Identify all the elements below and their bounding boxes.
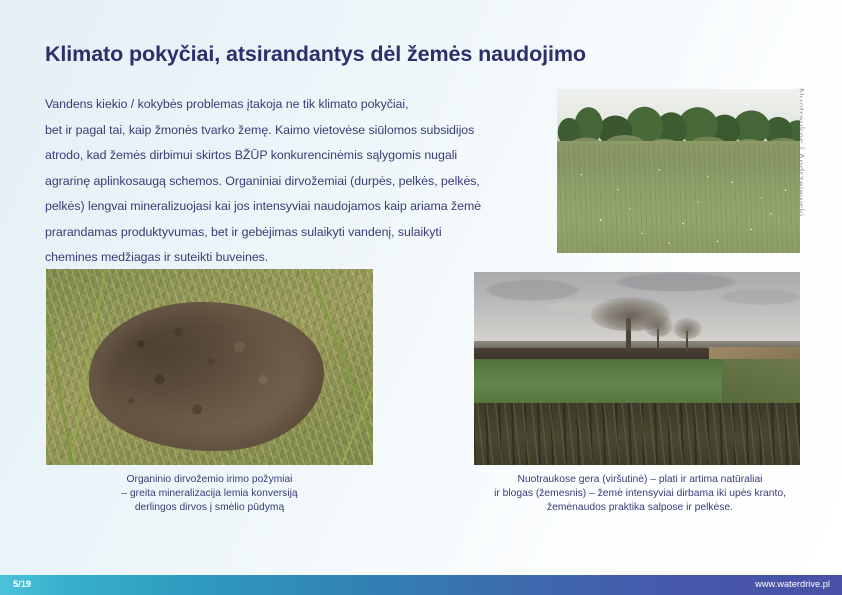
- bare-tree-medium: [644, 314, 673, 351]
- body-line: prarandamas produktyvumas, bet ir gebėji…: [45, 220, 550, 246]
- website-link[interactable]: www.waterdrive.pl: [755, 579, 830, 589]
- slide-canvas: Klimato pokyčiai, atsirandantys dėl žemė…: [0, 0, 842, 595]
- body-paragraph: Vandens kiekio / kokybės problemas įtako…: [45, 92, 550, 271]
- molehill-soil-photo: [46, 269, 373, 465]
- wet-meadow-photo: [557, 89, 800, 253]
- caption-line: Organinio dirvožemio irimo požymiai: [46, 473, 373, 487]
- body-line: chemines medžiagas ir suteikti buveines.: [45, 245, 550, 271]
- molehill-scene: [46, 269, 373, 465]
- bare-tree-small: [673, 318, 702, 351]
- page-number: 5/19: [13, 579, 31, 589]
- body-line: atrodo, kad žemės dirbimui skirtos BŽŪP …: [45, 143, 550, 169]
- wildflower-specks: [557, 155, 800, 253]
- plough-row-texture: [474, 403, 800, 465]
- body-line: pelkės) lengvai mineralizuojasi kai jos …: [45, 194, 550, 220]
- field-scene: [474, 272, 800, 465]
- winter-field-photo: [474, 272, 800, 465]
- body-line: Vandens kiekio / kokybės problemas įtako…: [45, 92, 550, 118]
- caption-right: Nuotraukose gera (viršutinė) – plati ir …: [440, 473, 840, 516]
- body-line: agrarinę aplinkosaugą schemos. Organinia…: [45, 169, 550, 195]
- caption-line: Nuotraukose gera (viršutinė) – plati ir …: [440, 473, 840, 487]
- meadow-scene: [557, 89, 800, 253]
- caption-line: – greita mineralizacija lemia konversiją: [46, 487, 373, 501]
- footer-bar: 5/19 www.waterdrive.pl: [0, 575, 842, 595]
- caption-line: ir blogas (žemesnis) – žemė intensyviai …: [440, 487, 840, 501]
- green-crop-right: [722, 359, 800, 409]
- caption-line: žemėnaudos praktika salpose ir pelkėse.: [440, 501, 840, 515]
- caption-left: Organinio dirvožemio irimo požymiai – gr…: [46, 473, 373, 516]
- page-title: Klimato pokyčiai, atsirandantys dėl žemė…: [45, 42, 765, 68]
- body-line: bet ir pagal tai, kaip žmonės tvarko žem…: [45, 118, 550, 144]
- caption-line: derlingos dirvos į smėlio pūdymą: [46, 501, 373, 515]
- foreground-blades: [46, 269, 373, 465]
